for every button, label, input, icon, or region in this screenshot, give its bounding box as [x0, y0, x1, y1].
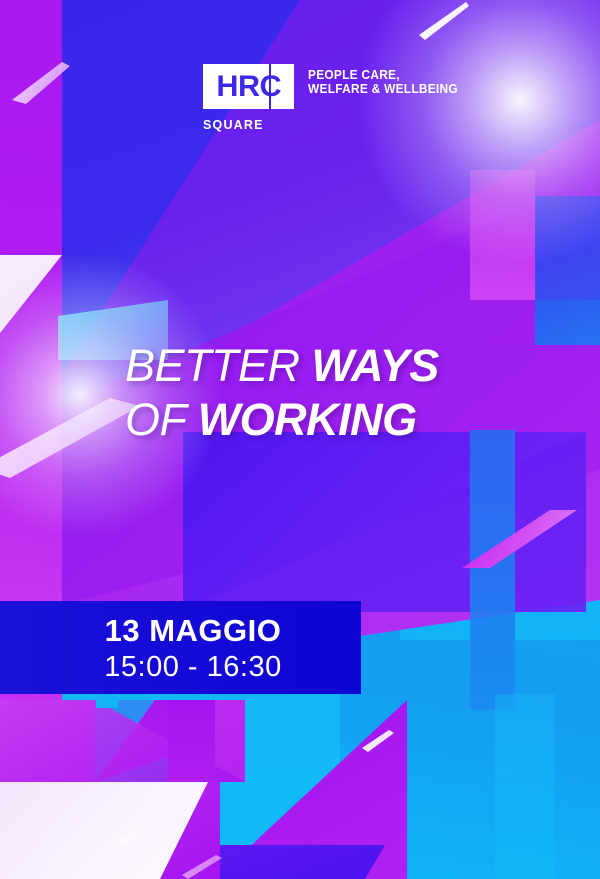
top-right-magenta-column: [470, 170, 535, 300]
logo-subtext: SQUARE: [203, 118, 473, 132]
headline-word-better: BETTER: [125, 340, 312, 391]
logo-tagline-line2: WELFARE & WELLBEING: [308, 82, 458, 96]
logo-divider-line: [269, 64, 271, 109]
hrc-logo-mark: HRC: [203, 64, 294, 109]
headline-line-2: OF WORKING: [125, 393, 545, 447]
event-date-inner: 13 MAGGIO 15:00 - 16:30: [83, 613, 303, 684]
logo-tagline-line1: PEOPLE CARE,: [308, 68, 458, 82]
event-poster: HRC PEOPLE CARE, WELFARE & WELLBEING SQU…: [0, 0, 600, 879]
event-date-banner: 13 MAGGIO 15:00 - 16:30: [0, 601, 361, 694]
blue-column-mid-right: [470, 430, 515, 710]
poster-headline: BETTER WAYS OF WORKING: [125, 339, 545, 447]
headline-word-of: OF: [125, 394, 198, 445]
headline-line-1: BETTER WAYS: [125, 339, 545, 393]
headline-word-working: WORKING: [198, 394, 417, 445]
logo-tagline: PEOPLE CARE, WELFARE & WELLBEING: [308, 68, 458, 96]
headline-word-ways: WAYS: [312, 340, 439, 391]
hrc-logo-text: HRC: [216, 72, 281, 102]
event-time-text: 15:00 - 16:30: [83, 650, 303, 684]
event-date-text: 13 MAGGIO: [83, 613, 303, 649]
bottom-cyan-sliver: [96, 694, 118, 708]
bottom-purple-band: [215, 845, 385, 879]
bottom-right-cyan-column: [495, 694, 555, 879]
brand-logo: HRC PEOPLE CARE, WELFARE & WELLBEING SQU…: [203, 64, 473, 132]
top-right-blue-block: [535, 196, 600, 301]
